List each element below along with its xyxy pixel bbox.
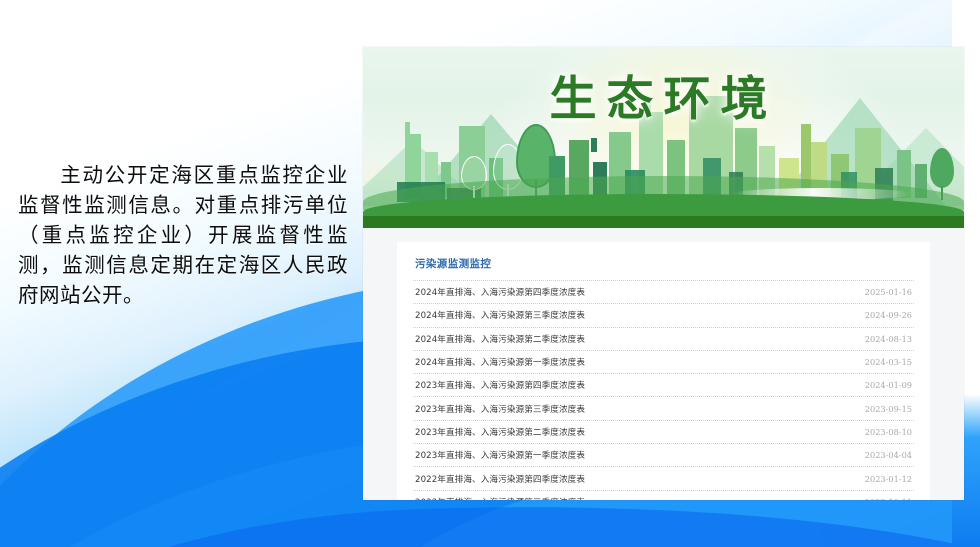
list-item-date: 2023-01-12	[865, 474, 912, 484]
slide-body-text: 主动公开定海区重点监控企业监督性监测信息。对重点排污单位（重点监控企业）开展监督…	[18, 160, 348, 310]
document-list: 2024年直排海、入海污染源第四季度浓度表2025-01-162024年直排海、…	[413, 280, 914, 500]
list-item[interactable]: 2022年直排海、入海污染源第三季度浓度表2022-10-11	[413, 491, 914, 500]
list-item-date: 2024-09-26	[865, 310, 912, 320]
list-item-title[interactable]: 2024年直排海、入海污染源第二季度浓度表	[415, 333, 585, 345]
list-item-title[interactable]: 2022年直排海、入海污染源第四季度浓度表	[415, 473, 585, 485]
content-area: 污染源监测监控 2024年直排海、入海污染源第四季度浓度表2025-01-162…	[363, 228, 964, 500]
list-item-title[interactable]: 2023年直排海、入海污染源第二季度浓度表	[415, 426, 585, 438]
banner-title: 生态环境	[363, 60, 964, 129]
list-item[interactable]: 2024年直排海、入海污染源第一季度浓度表2024-03-15	[413, 351, 914, 374]
list-item-title[interactable]: 2023年直排海、入海污染源第一季度浓度表	[415, 449, 585, 461]
list-item-date: 2023-04-04	[865, 450, 912, 460]
list-item-date: 2025-01-16	[865, 287, 912, 297]
slide-body-text-content: 主动公开定海区重点监控企业监督性监测信息。对重点排污单位（重点监控企业）开展监督…	[18, 163, 348, 307]
eco-banner: 生态环境	[363, 47, 964, 228]
news-card: 污染源监测监控 2024年直排海、入海污染源第四季度浓度表2025-01-162…	[397, 242, 930, 500]
list-item[interactable]: 2023年直排海、入海污染源第二季度浓度表2023-08-10	[413, 421, 914, 444]
list-item[interactable]: 2023年直排海、入海污染源第四季度浓度表2024-01-09	[413, 374, 914, 397]
list-item-title[interactable]: 2024年直排海、入海污染源第四季度浓度表	[415, 286, 585, 298]
list-item-title[interactable]: 2024年直排海、入海污染源第一季度浓度表	[415, 356, 585, 368]
website-screenshot: 生态环境 污染源监测监控 2024年直排海、入海污染源第四季度浓度表2025-0…	[363, 47, 964, 500]
list-item-date: 2023-08-10	[865, 427, 912, 437]
list-item-date: 2023-09-15	[865, 404, 912, 414]
list-item[interactable]: 2024年直排海、入海污染源第四季度浓度表2025-01-16	[413, 281, 914, 304]
building-icon	[591, 138, 597, 152]
ground-band-3	[363, 216, 964, 228]
list-item-title[interactable]: 2023年直排海、入海污染源第四季度浓度表	[415, 379, 585, 391]
list-item-title[interactable]: 2023年直排海、入海污染源第三季度浓度表	[415, 403, 585, 415]
list-item-date: 2024-03-15	[865, 357, 912, 367]
list-item[interactable]: 2023年直排海、入海污染源第三季度浓度表2023-09-15	[413, 397, 914, 420]
list-item[interactable]: 2023年直排海、入海污染源第一季度浓度表2023-04-04	[413, 444, 914, 467]
list-item-date: 2024-08-13	[865, 334, 912, 344]
list-item-date: 2024-01-09	[865, 380, 912, 390]
presentation-slide: 主动公开定海区重点监控企业监督性监测信息。对重点排污单位（重点监控企业）开展监督…	[0, 0, 980, 547]
list-item-title[interactable]: 2022年直排海、入海污染源第三季度浓度表	[415, 496, 585, 500]
list-item-date: 2022-10-11	[865, 497, 912, 500]
list-item[interactable]: 2024年直排海、入海污染源第三季度浓度表2024-09-26	[413, 304, 914, 327]
list-item[interactable]: 2022年直排海、入海污染源第四季度浓度表2023-01-12	[413, 467, 914, 490]
list-item-title[interactable]: 2024年直排海、入海污染源第三季度浓度表	[415, 309, 585, 321]
list-item[interactable]: 2024年直排海、入海污染源第二季度浓度表2024-08-13	[413, 328, 914, 351]
card-title: 污染源监测监控	[413, 254, 914, 280]
